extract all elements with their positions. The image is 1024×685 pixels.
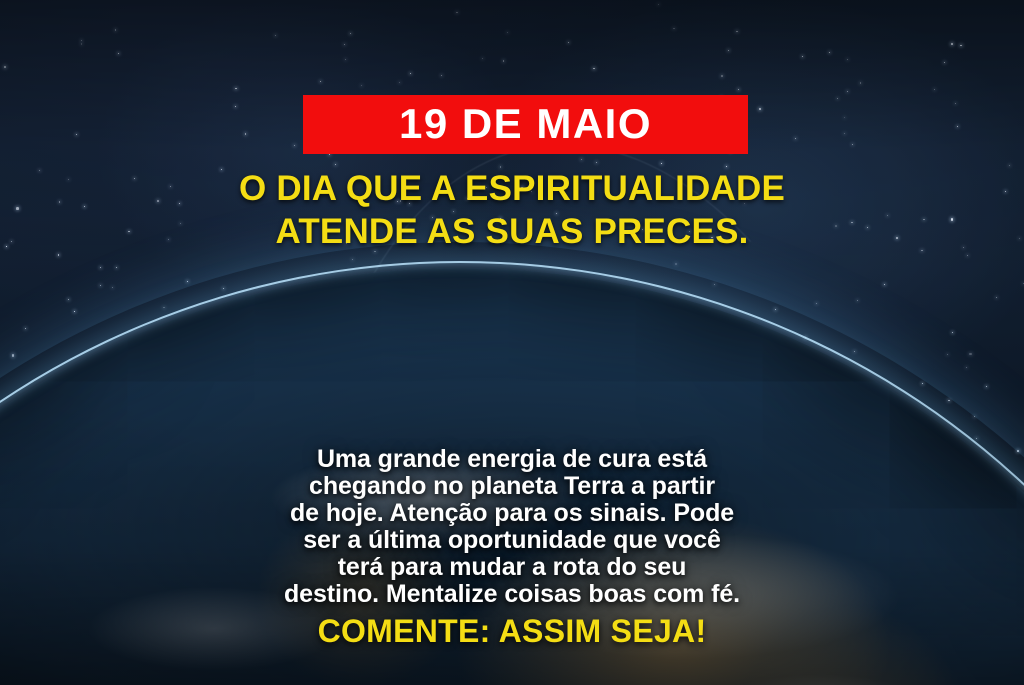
body-copy: Uma grande energia de cura está chegando… <box>0 446 1024 608</box>
call-to-action-text: COMENTE: ASSIM SEJA! <box>0 614 1024 649</box>
date-banner-label: 19 DE MAIO <box>399 103 652 145</box>
body-line-1: Uma grande energia de cura está <box>0 446 1024 473</box>
body-line-3: de hoje. Atenção para os sinais. Pode <box>0 500 1024 527</box>
body-line-6: destino. Mentalize coisas boas com fé. <box>0 581 1024 608</box>
date-banner: 19 DE MAIO <box>303 95 748 154</box>
poster-canvas: 19 DE MAIO O DIA QUE A ESPIRITUALIDADE A… <box>0 0 1024 685</box>
poster-content: 19 DE MAIO O DIA QUE A ESPIRITUALIDADE A… <box>0 0 1024 685</box>
body-line-4: ser a última oportunidade que você <box>0 527 1024 554</box>
body-line-2: chegando no planeta Terra a partir <box>0 473 1024 500</box>
headline: O DIA QUE A ESPIRITUALIDADE ATENDE AS SU… <box>0 168 1024 253</box>
headline-line-2: ATENDE AS SUAS PRECES. <box>0 211 1024 254</box>
headline-line-1: O DIA QUE A ESPIRITUALIDADE <box>0 168 1024 211</box>
body-line-5: terá para mudar a rota do seu <box>0 554 1024 581</box>
